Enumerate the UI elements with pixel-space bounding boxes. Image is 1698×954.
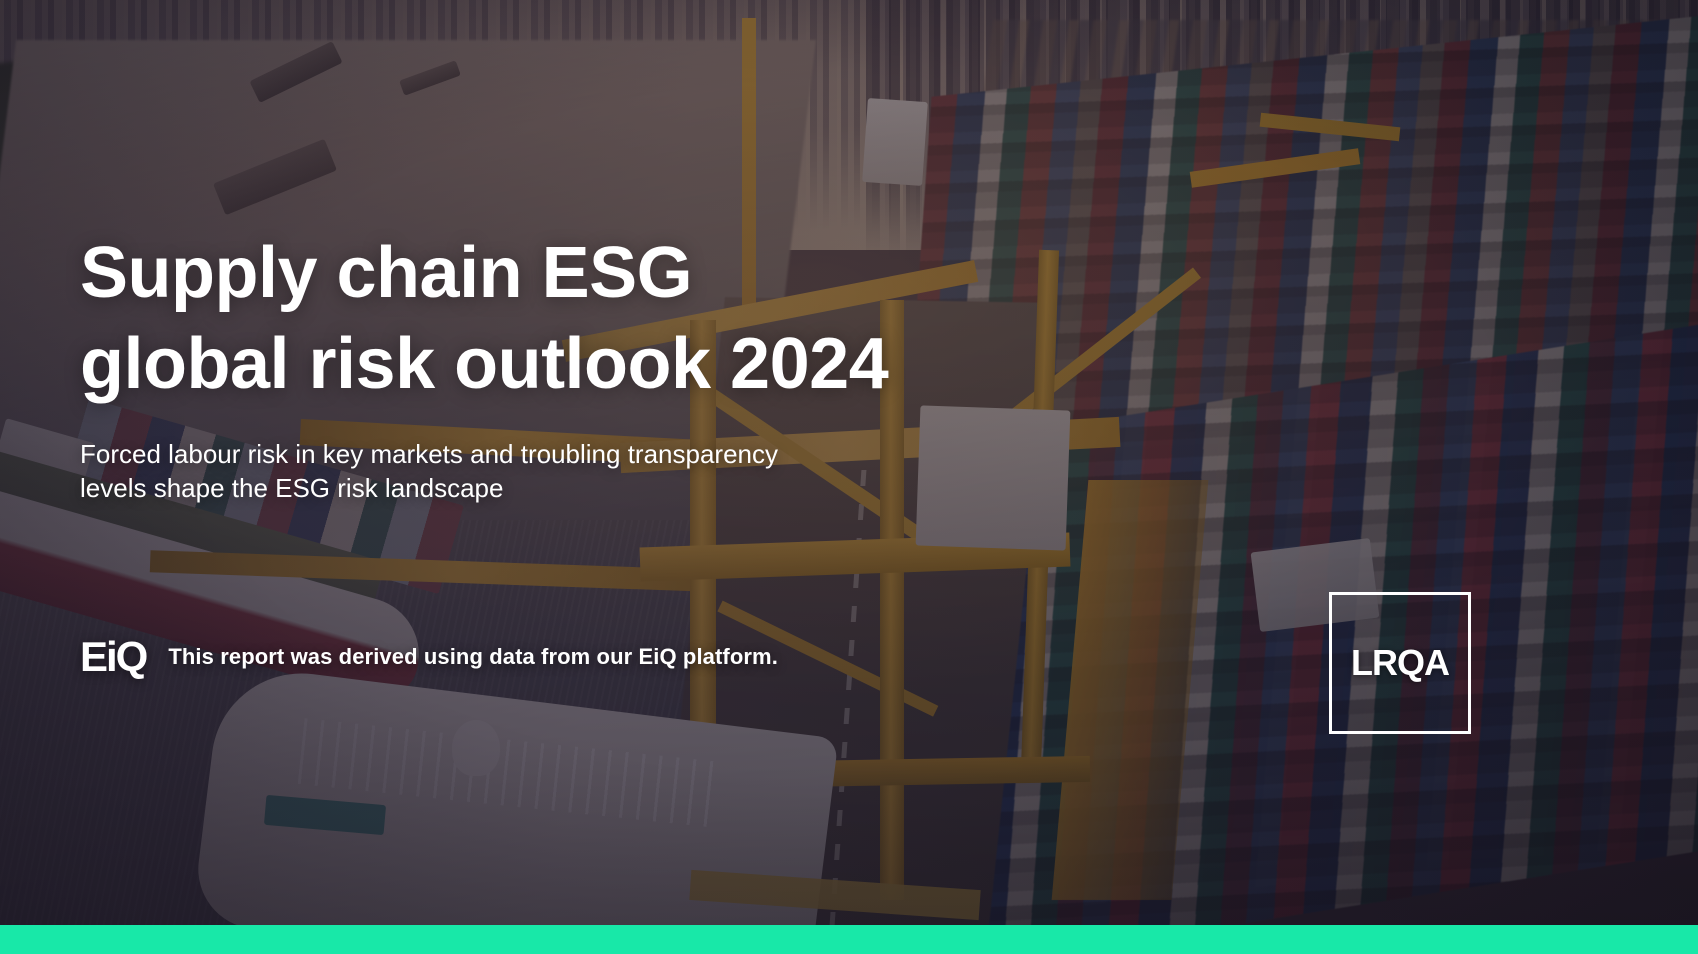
page-title-line-2: global risk outlook 2024 bbox=[80, 319, 1030, 410]
lrqa-logo: LRQA bbox=[1329, 592, 1471, 734]
page-subtitle-line-2: levels shape the ESG risk landscape bbox=[80, 472, 840, 506]
page-subtitle: Forced labour risk in key markets and tr… bbox=[80, 438, 840, 506]
page-title: Supply chain ESG global risk outlook 202… bbox=[80, 228, 1030, 409]
report-cover-page: Supply chain ESG global risk outlook 202… bbox=[0, 0, 1698, 954]
bottom-accent-bar bbox=[0, 925, 1698, 954]
cover-content: Supply chain ESG global risk outlook 202… bbox=[0, 0, 1698, 954]
lrqa-wordmark: LRQA bbox=[1351, 645, 1449, 681]
eiq-attribution: EiQ This report was derived using data f… bbox=[80, 636, 778, 678]
eiq-attribution-text: This report was derived using data from … bbox=[168, 644, 778, 670]
page-title-line-1: Supply chain ESG bbox=[80, 228, 1030, 319]
page-subtitle-line-1: Forced labour risk in key markets and tr… bbox=[80, 438, 840, 472]
eiq-logo: EiQ bbox=[80, 636, 146, 678]
